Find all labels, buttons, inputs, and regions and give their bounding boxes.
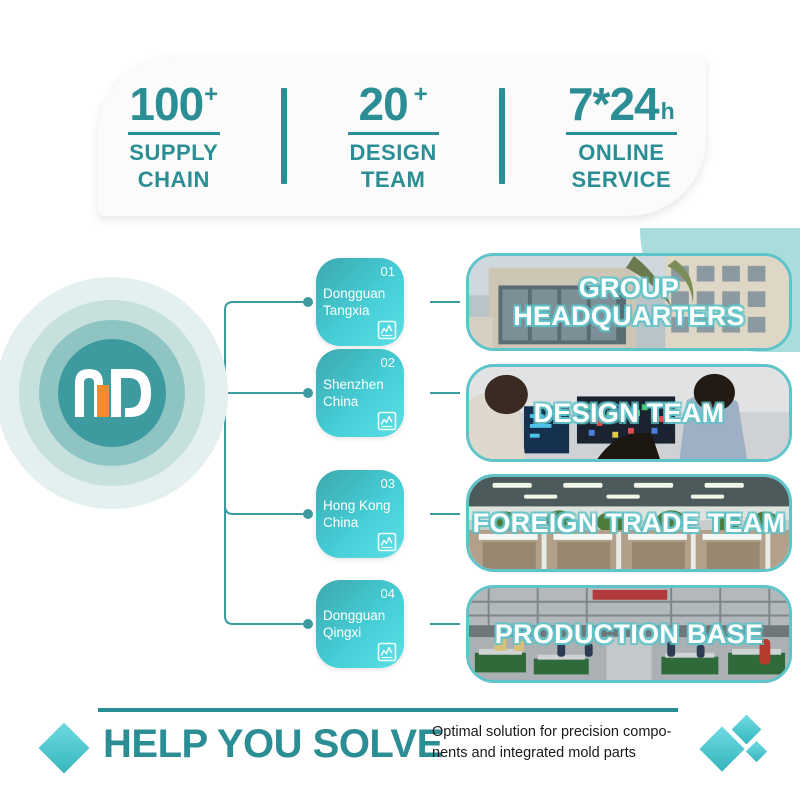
connector-dot-2 <box>303 388 313 398</box>
stat-number: 20 <box>359 81 408 127</box>
stat-unit-hours: h <box>661 100 675 123</box>
facility-label: FOREIGN TRADE TEAM <box>473 509 786 537</box>
footer-subtitle: Optimal solution for precision compo- ne… <box>432 722 702 764</box>
facility-card-headquarters[interactable]: GROUP HEADQUARTERS <box>466 253 792 351</box>
location-card-04[interactable]: 04 Dongguan Qingxi <box>316 580 404 668</box>
location-name-line1: Hong Kong <box>323 498 391 513</box>
stat-number: 100 <box>129 81 203 127</box>
facility-label: DESIGN TEAM <box>534 399 725 427</box>
company-logo-hub <box>0 277 228 509</box>
location-name: Dongguan Qingxi <box>323 607 399 641</box>
location-name: Dongguan Tangxia <box>323 285 399 319</box>
location-name-line2: Tangxia <box>323 303 370 318</box>
location-name-line1: Shenzhen <box>323 377 384 392</box>
footer-title: HELP YOU SOLVE <box>103 722 443 767</box>
location-number: 01 <box>381 264 395 279</box>
location-number: 04 <box>381 586 395 601</box>
stat-label-line1: ONLINE <box>578 142 664 164</box>
stat-label-line2: TEAM <box>361 169 425 191</box>
location-card-03[interactable]: 03 Hong Kong China <box>316 470 404 558</box>
stat-value-group: 100 + <box>129 81 218 130</box>
location-name-line1: Dongguan <box>323 608 385 623</box>
chart-icon <box>377 411 397 431</box>
logo-monogram-md-icon <box>73 367 151 419</box>
location-card-02[interactable]: 02 Shenzhen China <box>316 349 404 437</box>
stat-plus-superscript: + <box>204 83 218 107</box>
stat-plus-superscript: + <box>414 83 428 107</box>
stat-value-group: 7*24 h <box>568 81 675 130</box>
stat-number: 7*24 <box>568 81 659 127</box>
location-number: 03 <box>381 476 395 491</box>
facility-label: PRODUCTION BASE <box>495 620 764 648</box>
stat-supply-chain: 100 + SUPPLY CHAIN <box>129 81 218 191</box>
chart-icon <box>377 642 397 662</box>
footer-subtitle-line1: Optimal solution for precision compo- <box>432 724 671 740</box>
connector-dot-1 <box>303 297 313 307</box>
stat-label-line1: SUPPLY <box>129 142 218 164</box>
stat-label-line2: CHAIN <box>138 169 210 191</box>
location-name-line2: Qingxi <box>323 625 361 640</box>
stat-divider-rule <box>348 132 439 135</box>
facility-card-foreign-trade[interactable]: FOREIGN TRADE TEAM <box>466 474 792 572</box>
footer-divider-rule <box>98 708 678 712</box>
banner-vertical-separator <box>499 88 505 184</box>
location-name: Hong Kong China <box>323 497 399 531</box>
location-name: Shenzhen China <box>323 376 399 410</box>
facility-card-production-base[interactable]: PRODUCTION BASE <box>466 585 792 683</box>
stat-divider-rule <box>128 132 221 135</box>
infographic-canvas: 100 + SUPPLY CHAIN 20 + DESIGN TEAM 7*24… <box>0 0 800 800</box>
stat-value-group: 20 + <box>359 81 428 130</box>
stat-label-line1: DESIGN <box>349 142 436 164</box>
connector-dot-3 <box>303 509 313 519</box>
location-number: 02 <box>381 355 395 370</box>
stat-label-line2: SERVICE <box>571 169 671 191</box>
connector-dot-4 <box>303 619 313 629</box>
location-card-01[interactable]: 01 Dongguan Tangxia <box>316 258 404 346</box>
footer-subtitle-line2: nents and integrated mold parts <box>432 745 636 761</box>
stats-banner: 100 + SUPPLY CHAIN 20 + DESIGN TEAM 7*24… <box>98 56 706 216</box>
facility-label: GROUP HEADQUARTERS <box>469 274 789 330</box>
stat-design-team: 20 + DESIGN TEAM <box>349 81 436 191</box>
chart-icon <box>377 320 397 340</box>
facility-card-design-team[interactable]: DESIGN TEAM <box>466 364 792 462</box>
banner-vertical-separator <box>281 88 287 184</box>
chart-icon <box>377 532 397 552</box>
stat-online-service: 7*24 h ONLINE SERVICE <box>568 81 675 191</box>
stat-divider-rule <box>566 132 677 135</box>
location-name-line2: China <box>323 515 358 530</box>
location-name-line2: China <box>323 394 358 409</box>
location-name-line1: Dongguan <box>323 286 385 301</box>
